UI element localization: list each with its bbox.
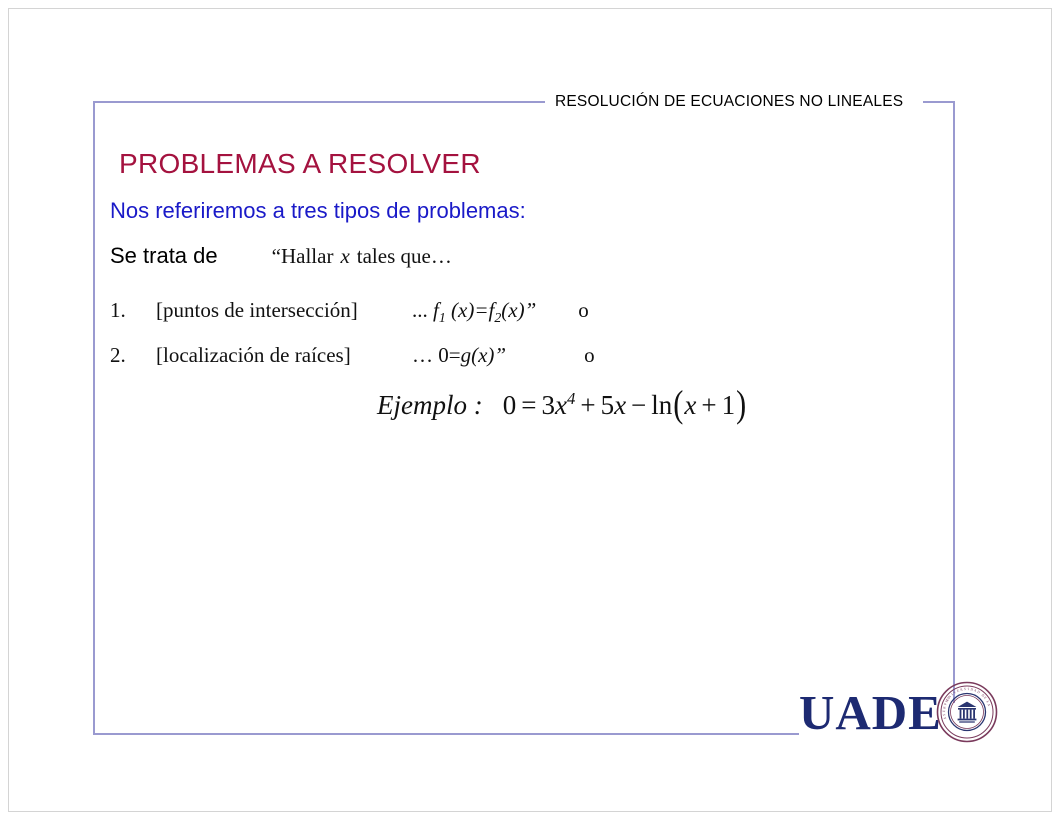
term1-coefficient: 3	[541, 390, 555, 420]
term2-variable: x	[614, 390, 626, 420]
frame-border-top-left	[93, 101, 545, 103]
example-label: Ejemplo :	[377, 390, 483, 421]
problem-expression: ... f1 (x)=f2(x)”	[412, 298, 536, 326]
frame-border-bottom	[93, 733, 799, 735]
list-item: 1. [puntos de intersección] ... f1 (x)=f…	[110, 298, 589, 326]
svg-text:E: E	[942, 710, 946, 712]
uade-seal-icon: U N I V E R S I D A D D E L A E M	[936, 681, 998, 743]
natural-log: ln	[651, 390, 672, 420]
frame-border-right	[953, 101, 955, 703]
uade-wordmark: UADE	[799, 688, 942, 737]
list-item: 2. [localización de raíces] … 0=g(x)” o	[110, 343, 595, 368]
equation-zero: 0	[503, 390, 517, 420]
term2-coefficient: 5	[601, 390, 615, 420]
problem-conjunction: o	[578, 298, 589, 323]
intro-lead-text: Se trata de	[110, 243, 218, 269]
page-title: PROBLEMAS A RESOLVER	[119, 148, 481, 180]
intro-quote-text: “Hallarxtales que…	[272, 244, 452, 269]
equation-equals: =	[516, 390, 541, 420]
paren-close: )	[735, 383, 747, 427]
svg-text:·: ·	[966, 687, 967, 691]
inner-variable: x	[684, 390, 696, 420]
expression-middle: (x)=	[446, 298, 489, 322]
problem-ellipsis: ...	[412, 298, 428, 322]
frame-border-left	[93, 101, 95, 735]
operator-minus: −	[626, 390, 651, 420]
problem-expression: … 0=g(x)”	[412, 343, 506, 368]
inner-constant: 1	[722, 390, 736, 420]
example-formula: 0=3x4+5x−ln(x+1)	[503, 387, 747, 422]
problem-description: [puntos de intersección]	[156, 298, 412, 323]
function-f1-subscript: 1	[439, 310, 446, 325]
svg-text:D: D	[976, 690, 981, 695]
slide-subtitle: Nos referiremos a tres tipos de problema…	[110, 198, 526, 224]
paren-open: (	[672, 383, 684, 427]
slide-header-title: RESOLUCIÓN DE ECUACIONES NO LINEALES	[555, 93, 903, 111]
uade-logo: UADE U N I V E R S I D A D	[799, 681, 998, 743]
intro-line: Se trata de “Hallarxtales que…	[110, 243, 452, 269]
inner-operator-plus: +	[696, 390, 721, 420]
expression-prefix: 0=	[438, 343, 460, 367]
term1-variable: x	[555, 390, 567, 420]
expression-tail: (x)”	[471, 343, 506, 367]
example-equation: Ejemplo : 0=3x4+5x−ln(x+1)	[377, 387, 747, 422]
svg-text:S: S	[942, 714, 946, 716]
problem-number: 1.	[110, 298, 156, 323]
expression-tail: (x)”	[501, 298, 536, 322]
slide-page: RESOLUCIÓN DE ECUACIONES NO LINEALES PRO…	[8, 8, 1052, 812]
problem-number: 2.	[110, 343, 156, 368]
problem-description: [localización de raíces]	[156, 343, 412, 368]
intro-quote-variable: x	[333, 244, 356, 268]
operator-plus: +	[575, 390, 600, 420]
svg-text:A: A	[986, 703, 991, 707]
problem-conjunction: o	[584, 343, 595, 368]
intro-quote-suffix: tales que…	[357, 244, 452, 268]
problem-ellipsis: …	[412, 343, 433, 367]
intro-quote-prefix: “Hallar	[272, 244, 334, 268]
function-g: g	[461, 343, 472, 367]
frame-border-top-right	[923, 101, 955, 103]
